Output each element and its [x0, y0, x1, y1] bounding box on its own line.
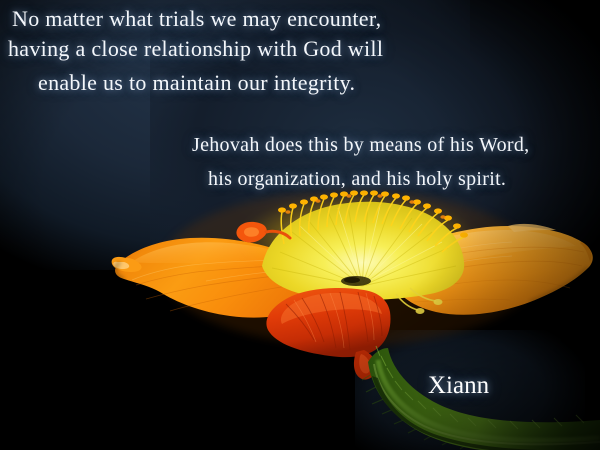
image-canvas: No matter what trials we may encounter, …: [0, 0, 600, 450]
quote-line-4: Jehovah does this by means of his Word,: [192, 134, 529, 157]
quote-line-1: No matter what trials we may encounter,: [12, 6, 381, 32]
petal-left: [112, 238, 320, 318]
quote-line-5: his organization, and his holy spirit.: [208, 168, 506, 191]
petal-fragment: [236, 222, 290, 243]
edge-softening: [115, 262, 588, 302]
flower-halo: [160, 190, 540, 346]
poppy-flower-illustration: [0, 0, 600, 450]
vignette-overlay: [0, 0, 600, 450]
flower-center: [240, 190, 476, 318]
signature-text: Xiann: [428, 372, 489, 400]
quote-line-3: enable us to maintain our integrity.: [38, 70, 355, 96]
quote-line-2: having a close relationship with God wil…: [8, 36, 383, 62]
petal-right: [388, 224, 593, 315]
stamen-anthers: [278, 190, 468, 237]
petal-lower: [266, 288, 390, 380]
stamen-filaments: [281, 195, 464, 252]
